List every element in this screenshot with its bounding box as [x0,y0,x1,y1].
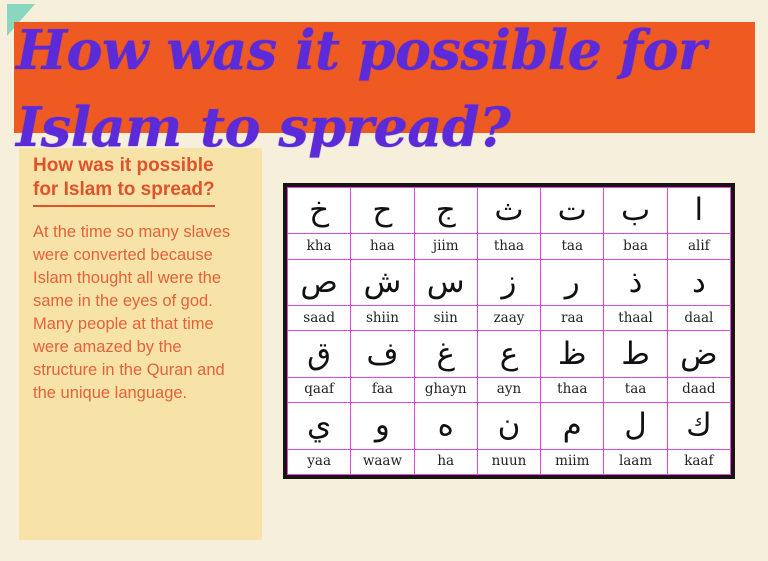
alphabet-letter-cell: ت [541,188,604,234]
alphabet-name-cell: saad [288,306,351,331]
text-panel: How was it possible for Islam to spread?… [19,148,262,540]
alphabet-name-cell: haa [351,234,414,259]
alphabet-name-cell: daad [667,377,730,402]
alphabet-name-cell: waaw [351,449,414,474]
alphabet-letter-cell: ب [604,188,667,234]
alphabet-letter-cell: ر [541,259,604,305]
alphabet-letter-row: قفغعظطض [288,331,731,377]
alphabet-name-cell: baa [604,234,667,259]
alphabet-letter-cell: م [541,403,604,449]
alphabet-name-cell: thaa [541,377,604,402]
slide-title: How was it possible for Islam to spread? [16,12,756,166]
alphabet-name-cell: qaaf [288,377,351,402]
alphabet-letter-cell: ي [288,403,351,449]
alphabet-name-row: saadshiinsiinzaayraathaaldaal [288,306,731,331]
alphabet-letter-cell: ق [288,331,351,377]
alphabet-name-cell: laam [604,449,667,474]
alphabet-name-cell: daal [667,306,730,331]
alphabet-name-cell: ha [414,449,477,474]
alphabet-letter-cell: ز [477,259,540,305]
alphabet-name-cell: thaal [604,306,667,331]
alphabet-name-cell: alif [667,234,730,259]
alphabet-letter-cell: ض [667,331,730,377]
alphabet-name-cell: kaaf [667,449,730,474]
alphabet-name-cell: shiin [351,306,414,331]
alphabet-name-cell: raa [541,306,604,331]
panel-heading: How was it possible for Islam to spread? [33,154,215,207]
alphabet-letter-cell: ع [477,331,540,377]
alphabet-name-cell: ghayn [414,377,477,402]
alphabet-name-cell: taa [541,234,604,259]
alphabet-name-cell: yaa [288,449,351,474]
alphabet-letter-cell: ل [604,403,667,449]
alphabet-name-cell: thaa [477,234,540,259]
slide-canvas: How was it possible for Islam to spread?… [0,0,768,561]
alphabet-letter-cell: ط [604,331,667,377]
arabic-alphabet-table: خحجثتباkhahaajiimthaataabaaalifصشسزرذدsa… [283,183,735,479]
alphabet-name-cell: kha [288,234,351,259]
alphabet-letter-cell: ف [351,331,414,377]
alphabet-letter-cell: ج [414,188,477,234]
alphabet-letter-cell: و [351,403,414,449]
alphabet-grid: خحجثتباkhahaajiimthaataabaaalifصشسزرذدsa… [287,187,731,475]
alphabet-letter-cell: ه [414,403,477,449]
alphabet-grid-body: خحجثتباkhahaajiimthaataabaaalifصشسزرذدsa… [288,188,731,475]
alphabet-letter-row: صشسزرذد [288,259,731,305]
alphabet-letter-cell: ص [288,259,351,305]
alphabet-letter-cell: غ [414,331,477,377]
alphabet-name-cell: miim [541,449,604,474]
alphabet-letter-cell: ث [477,188,540,234]
alphabet-name-row: yaawaawhanuunmiimlaamkaaf [288,449,731,474]
alphabet-letter-cell: ا [667,188,730,234]
alphabet-letter-cell: ذ [604,259,667,305]
alphabet-letter-row: يوهنملك [288,403,731,449]
alphabet-name-cell: zaay [477,306,540,331]
alphabet-name-cell: ayn [477,377,540,402]
alphabet-name-row: khahaajiimthaataabaaalif [288,234,731,259]
alphabet-letter-cell: د [667,259,730,305]
alphabet-letter-cell: ك [667,403,730,449]
alphabet-name-cell: jiim [414,234,477,259]
alphabet-letter-cell: ظ [541,331,604,377]
alphabet-letter-row: خحجثتبا [288,188,731,234]
panel-body-text: At the time so many slaves were converte… [33,221,248,405]
alphabet-letter-cell: خ [288,188,351,234]
alphabet-name-row: qaaffaaghaynaynthaataadaad [288,377,731,402]
alphabet-name-cell: nuun [477,449,540,474]
alphabet-name-cell: faa [351,377,414,402]
alphabet-name-cell: siin [414,306,477,331]
alphabet-letter-cell: س [414,259,477,305]
alphabet-letter-cell: ح [351,188,414,234]
alphabet-letter-cell: ن [477,403,540,449]
alphabet-name-cell: taa [604,377,667,402]
alphabet-letter-cell: ش [351,259,414,305]
